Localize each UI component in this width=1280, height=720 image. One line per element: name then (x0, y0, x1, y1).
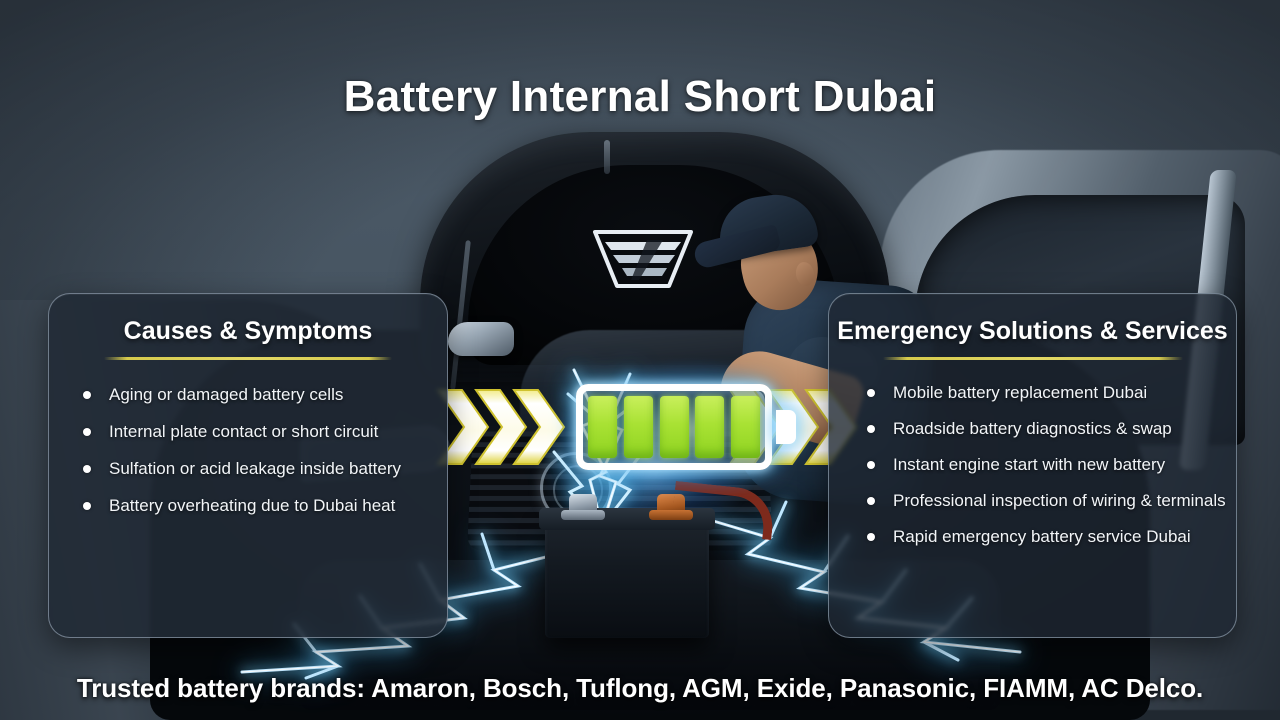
list-item-label: Mobile battery replacement Dubai (893, 383, 1147, 402)
list-item: Rapid emergency battery service Dubai (857, 526, 1236, 548)
list-item-label: Roadside battery diagnostics & swap (893, 419, 1172, 438)
list-item-label: Professional inspection of wiring & term… (893, 491, 1226, 510)
battery-icon-shell (576, 384, 772, 470)
list-item-label: Rapid emergency battery service Dubai (893, 527, 1191, 546)
panel-heading-left: Causes & Symptoms (49, 317, 447, 346)
trusted-brands-footer: Trusted battery brands: Amaron, Bosch, T… (0, 673, 1280, 704)
bullet-dot-icon (867, 533, 875, 541)
causes-symptoms-panel: Causes & Symptoms Aging or damaged batte… (48, 293, 448, 638)
side-mirror (448, 322, 514, 356)
list-item: Mobile battery replacement Dubai (857, 382, 1236, 404)
bullet-dot-icon (867, 461, 875, 469)
battery-cell (660, 396, 689, 458)
list-item: Professional inspection of wiring & term… (857, 490, 1236, 512)
bullet-dot-icon (83, 428, 91, 436)
bullet-dot-icon (867, 389, 875, 397)
list-item-label: Battery overheating due to Dubai heat (109, 496, 395, 515)
battery-level-icon (576, 384, 804, 470)
panel-divider-left (104, 357, 392, 360)
battery-icon-cap (776, 410, 796, 444)
causes-list: Aging or damaged battery cells Internal … (73, 384, 447, 517)
list-item: Battery overheating due to Dubai heat (73, 495, 447, 517)
list-item: Sulfation or acid leakage inside battery (73, 458, 447, 480)
list-item: Aging or damaged battery cells (73, 384, 447, 406)
bullet-dot-icon (867, 497, 875, 505)
car-battery-object (545, 520, 709, 638)
bullet-dot-icon (867, 425, 875, 433)
battery-cell (695, 396, 724, 458)
list-item-label: Instant engine start with new battery (893, 455, 1165, 474)
list-item-label: Sulfation or acid leakage inside battery (109, 459, 401, 478)
panel-heading-right: Emergency Solutions & Services (829, 317, 1236, 346)
battery-cell (588, 396, 617, 458)
battery-cell (624, 396, 653, 458)
list-item-label: Internal plate contact or short circuit (109, 422, 378, 441)
list-item: Roadside battery diagnostics & swap (857, 418, 1236, 440)
list-item: Internal plate contact or short circuit (73, 421, 447, 443)
page-title: Battery Internal Short Dubai (0, 72, 1280, 122)
bullet-dot-icon (83, 465, 91, 473)
list-item-label: Aging or damaged battery cells (109, 385, 343, 404)
bullet-dot-icon (83, 502, 91, 510)
bullet-dot-icon (83, 391, 91, 399)
poster-canvas: Battery Internal Short Dubai Causes & Sy… (0, 0, 1280, 720)
hood-latch (604, 140, 610, 174)
list-item: Instant engine start with new battery (857, 454, 1236, 476)
car-emblem-icon (589, 228, 697, 290)
emergency-solutions-panel: Emergency Solutions & Services Mobile ba… (828, 293, 1237, 638)
battery-cell (731, 396, 760, 458)
services-list: Mobile battery replacement Dubai Roadsid… (857, 382, 1236, 548)
panel-divider-right (883, 357, 1183, 360)
